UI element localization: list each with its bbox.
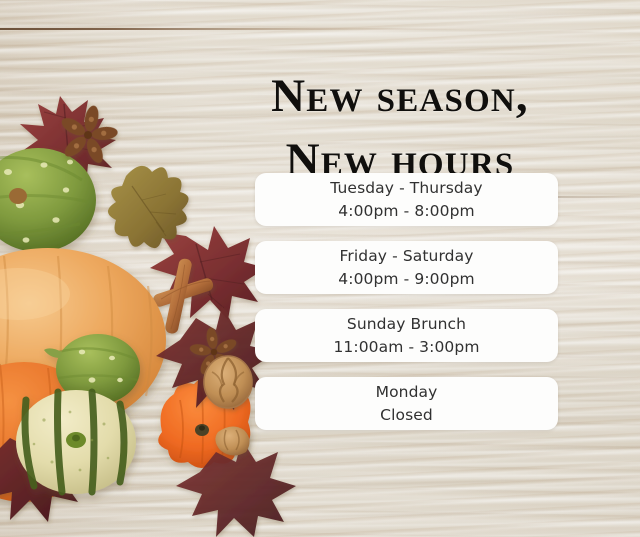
hours-card-day: Sunday Brunch <box>347 313 466 335</box>
hours-card-day: Monday <box>376 381 438 403</box>
hours-card-time: 4:00pm - 8:00pm <box>338 200 474 222</box>
hours-card-list: Tuesday - Thursday 4:00pm - 8:00pm Frida… <box>255 173 558 430</box>
hours-card-time: 11:00am - 3:00pm <box>333 336 479 358</box>
hours-card-monday-closed[interactable]: Monday Closed <box>255 377 558 430</box>
hours-card-time: Closed <box>380 404 433 426</box>
hours-card-time: 4:00pm - 9:00pm <box>338 268 474 290</box>
hours-card-tuesday-thursday[interactable]: Tuesday - Thursday 4:00pm - 8:00pm <box>255 173 558 226</box>
autumn-hours-poster: New season, New hours Tuesday - Thursday… <box>0 0 640 537</box>
hours-card-day: Friday - Saturday <box>340 245 474 267</box>
hours-card-sunday-brunch[interactable]: Sunday Brunch 11:00am - 3:00pm <box>255 309 558 362</box>
hours-card-friday-saturday[interactable]: Friday - Saturday 4:00pm - 9:00pm <box>255 241 558 294</box>
hours-card-day: Tuesday - Thursday <box>330 177 482 199</box>
